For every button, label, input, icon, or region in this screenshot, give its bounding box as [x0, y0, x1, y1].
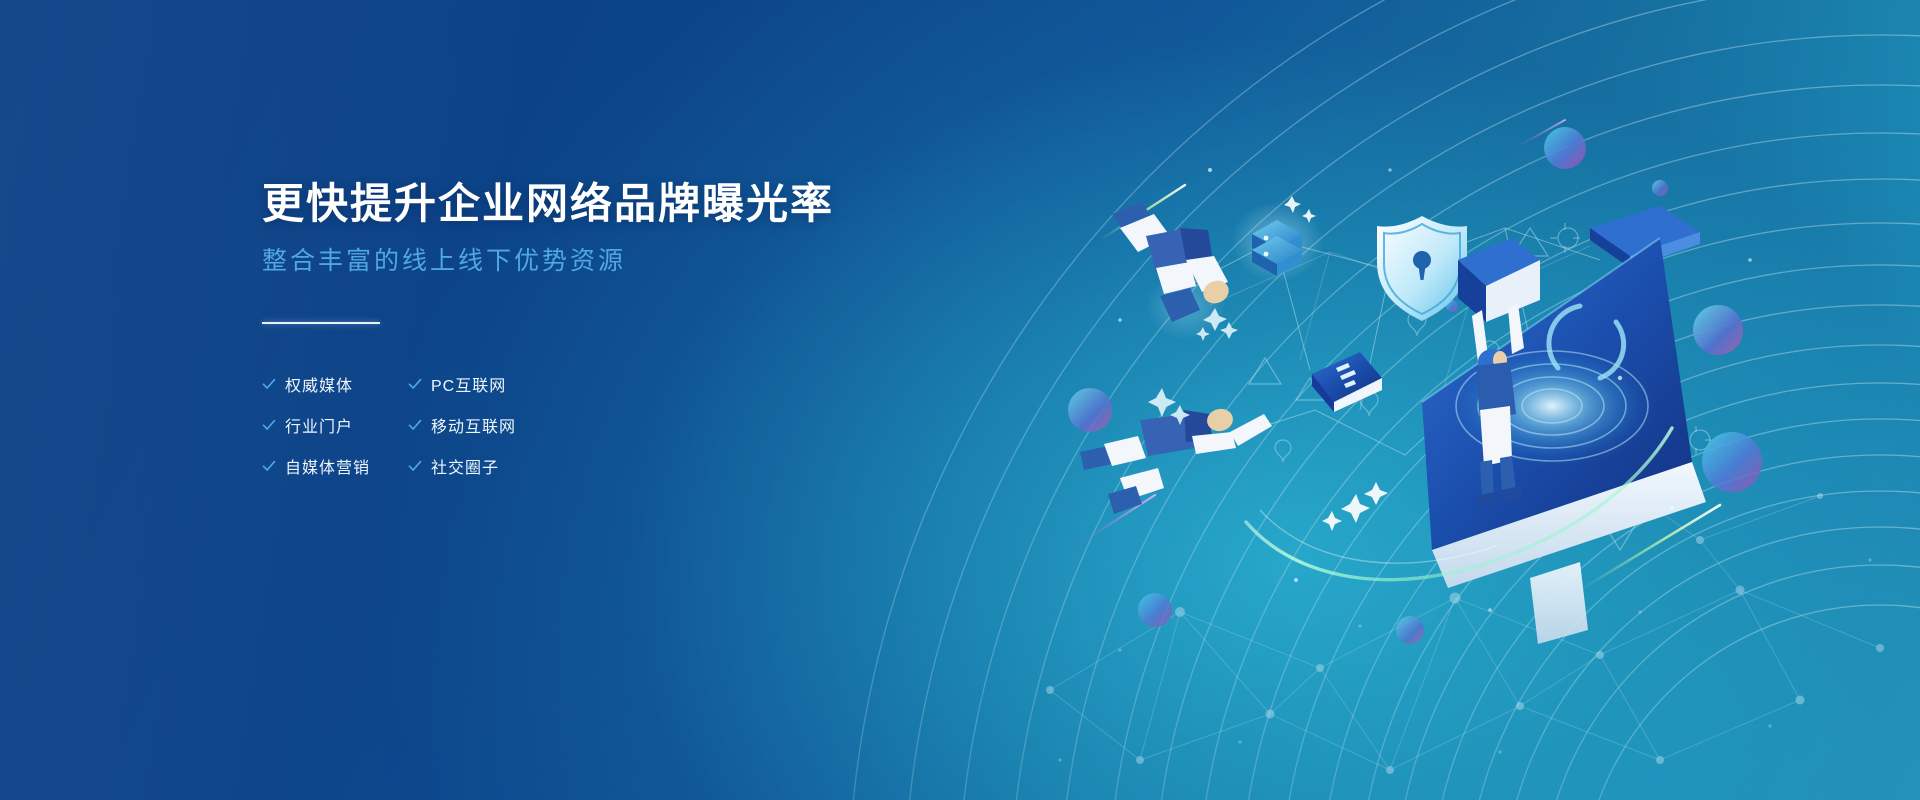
feature-label: PC互联网 — [431, 372, 506, 396]
check-icon — [408, 418, 422, 432]
list-item[interactable]: PC互联网 — [408, 372, 1042, 396]
feature-label: 自媒体营销 — [285, 454, 370, 478]
check-icon — [262, 377, 276, 391]
page-title: 更快提升企业网络品牌曝光率 — [262, 180, 1042, 227]
list-item[interactable]: 移动互联网 — [408, 413, 1042, 437]
check-icon — [408, 459, 422, 473]
list-item[interactable]: 社交圈子 — [408, 454, 1042, 478]
server-stack-icon — [1231, 196, 1323, 282]
section-divider — [262, 322, 380, 324]
check-icon — [262, 459, 276, 473]
check-icon — [408, 377, 422, 391]
network-marketing-illustration — [1060, 110, 1760, 670]
list-item[interactable]: 权威媒体 — [262, 372, 408, 396]
list-item[interactable]: 行业门户 — [262, 413, 408, 437]
feature-list: 权威媒体 PC互联网 行业门户 移动互联网 — [262, 372, 1042, 478]
feature-label: 行业门户 — [285, 413, 353, 437]
feature-label: 权威媒体 — [285, 372, 353, 396]
hero-banner: 更快提升企业网络品牌曝光率 整合丰富的线上线下优势资源 权威媒体 PC互联网 — [0, 0, 1920, 800]
page-subtitle: 整合丰富的线上线下优势资源 — [262, 245, 1042, 278]
floating-figure-lower-left — [1080, 407, 1272, 514]
list-item[interactable]: 自媒体营销 — [262, 454, 408, 478]
floating-figure-upper-left — [1112, 202, 1238, 341]
feature-label: 移动互联网 — [431, 413, 516, 437]
smartphone-icon — [1312, 352, 1382, 412]
feature-label: 社交圈子 — [431, 454, 499, 478]
check-icon — [262, 418, 276, 432]
hero-copy: 更快提升企业网络品牌曝光率 整合丰富的线上线下优势资源 权威媒体 PC互联网 — [262, 180, 1042, 478]
